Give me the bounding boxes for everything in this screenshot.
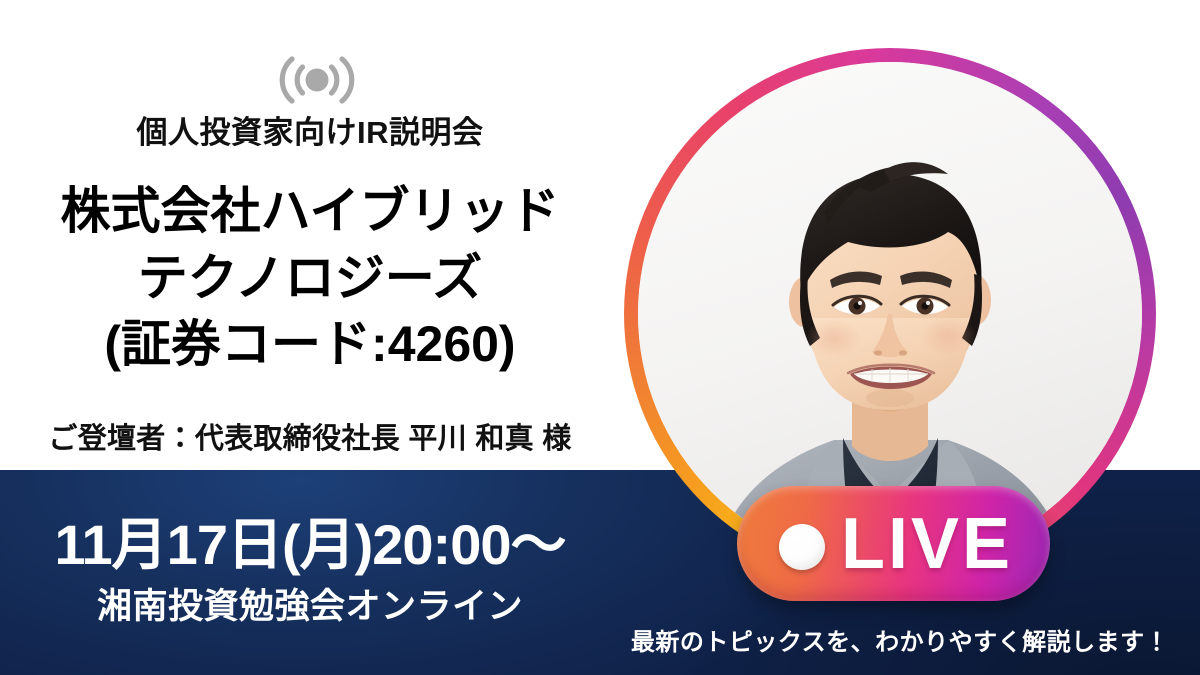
page-title: 株式会社ハイブリッド テクノロジーズ (証券コード:4260)	[0, 178, 620, 378]
broadcast-icon	[278, 48, 356, 112]
event-datetime: 11月17日(月)20:00〜	[0, 500, 620, 581]
left-text-column: 個人投資家向けIR説明会 株式会社ハイブリッド テクノロジーズ (証券コード:4…	[0, 0, 620, 470]
live-badge-label: LIVE	[841, 486, 1013, 601]
page-title-line-2: テクノロジーズ	[0, 245, 620, 312]
page-title-line-1: 株式会社ハイブリッド	[0, 178, 620, 245]
page-title-line-3: (証券コード:4260)	[0, 311, 620, 378]
event-organizer: 湘南投資勉強会オンライン	[0, 578, 620, 629]
eyebrow-heading: 個人投資家向けIR説明会	[0, 115, 620, 151]
live-badge[interactable]: LIVE	[737, 486, 1050, 601]
live-indicator-dot-icon	[779, 524, 825, 570]
tagline-text: 最新のトピックスを、わかりやすく解説します！	[600, 622, 1200, 657]
speaker-line: ご登壇者：代表取締役社長 平川 和真 様	[0, 415, 620, 457]
banner-canvas: 個人投資家向けIR説明会 株式会社ハイブリッド テクノロジーズ (証券コード:4…	[0, 0, 1200, 675]
